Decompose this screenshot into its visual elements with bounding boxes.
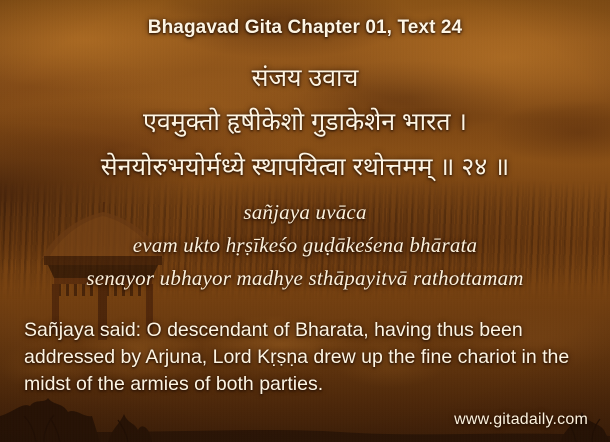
transliteration-line-3: senayor ubhayor madhye sthāpayitvā ratho… <box>0 266 610 291</box>
devanagari-line-2: एवमुक्तो हृषीकेशो गुडाकेशेन भारत । <box>0 104 610 138</box>
verse-content: Bhagavad Gita Chapter 01, Text 24 संजय उ… <box>0 0 610 442</box>
devanagari-line-1: संजय उवाच <box>0 60 610 94</box>
page-title: Bhagavad Gita Chapter 01, Text 24 <box>0 17 610 39</box>
transliteration-line-2: evam ukto hṛṣīkeśo guḍākeśena bhārata <box>0 233 610 258</box>
gita-verse-card: Bhagavad Gita Chapter 01, Text 24 संजय उ… <box>0 0 610 442</box>
devanagari-line-3: सेनयोरुभयोर्मध्ये स्थापयित्वा रथोत्तमम् … <box>0 149 610 183</box>
english-translation: Sañjaya said: O descendant of Bharata, h… <box>24 317 586 398</box>
transliteration-line-1: sañjaya uvāca <box>0 200 610 225</box>
site-url-label: www.gitadaily.com <box>454 411 588 429</box>
